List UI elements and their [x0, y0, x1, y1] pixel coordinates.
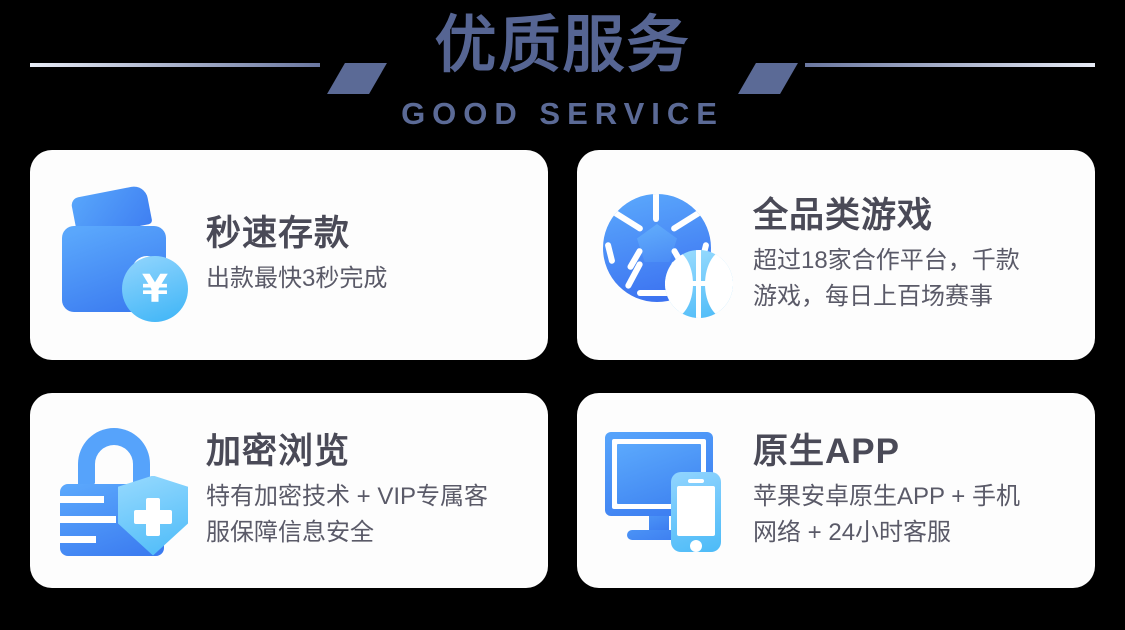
basketball-icon	[665, 250, 733, 318]
page-subtitle: GOOD SERVICE	[0, 96, 1125, 132]
lock-dash	[60, 496, 104, 503]
basketball-arc	[705, 250, 733, 318]
feature-card-encryption[interactable]: 加密浏览 特有加密技术 + VIP专属客 服保障信息安全	[30, 393, 548, 588]
soccer-seam	[604, 242, 615, 265]
lock-dash	[60, 536, 96, 543]
soccer-seam	[612, 209, 644, 232]
cross-icon	[134, 510, 172, 524]
yen-coin-icon: ¥	[122, 256, 188, 322]
phone-screen	[677, 486, 715, 536]
feature-card-games[interactable]: 全品类游戏 超过18家合作平台，千款 游戏，每日上百场赛事	[577, 150, 1095, 360]
card-subtitle: 苹果安卓原生APP + 手机 网络 + 24小时客服	[753, 479, 1081, 551]
card-text-block: 秒速存款 出款最快3秒完成	[206, 213, 548, 297]
soccer-seam	[670, 209, 702, 232]
lock-dash	[60, 516, 116, 523]
card-subtitle: 超过18家合作平台，千款 游戏，每日上百场赛事	[753, 243, 1081, 315]
wallet-yen-icon: ¥	[52, 180, 202, 330]
card-subtitle: 出款最快3秒完成	[206, 261, 534, 297]
card-text-block: 原生APP 苹果安卓原生APP + 手机 网络 + 24小时客服	[753, 431, 1095, 551]
monitor-phone-icon	[599, 416, 749, 566]
feature-card-deposit[interactable]: ¥ 秒速存款 出款最快3秒完成	[30, 150, 548, 360]
soccer-basketball-icon	[599, 180, 749, 330]
promo-page: 优质服务 GOOD SERVICE ¥ 秒速存款 出款最快3秒完成	[0, 0, 1125, 630]
card-text-block: 加密浏览 特有加密技术 + VIP专属客 服保障信息安全	[206, 431, 548, 551]
phone-speaker	[688, 479, 704, 483]
lock-shield-icon	[52, 416, 202, 566]
card-subtitle: 特有加密技术 + VIP专属客 服保障信息安全	[206, 479, 534, 551]
page-title: 优质服务	[0, 10, 1125, 82]
feature-card-native-app[interactable]: 原生APP 苹果安卓原生APP + 手机 网络 + 24小时客服	[577, 393, 1095, 588]
card-text-block: 全品类游戏 超过18家合作平台，千款 游戏，每日上百场赛事	[753, 195, 1095, 315]
phone-icon	[671, 472, 721, 552]
card-title: 全品类游戏	[753, 195, 1081, 237]
page-header: 优质服务 GOOD SERVICE	[0, 0, 1125, 146]
yen-symbol: ¥	[142, 270, 168, 308]
basketball-arc	[665, 250, 693, 318]
phone-home-button	[690, 540, 702, 552]
card-title: 原生APP	[753, 431, 1081, 473]
card-title: 秒速存款	[206, 213, 534, 255]
soccer-seam	[653, 194, 659, 222]
card-title: 加密浏览	[206, 431, 534, 473]
